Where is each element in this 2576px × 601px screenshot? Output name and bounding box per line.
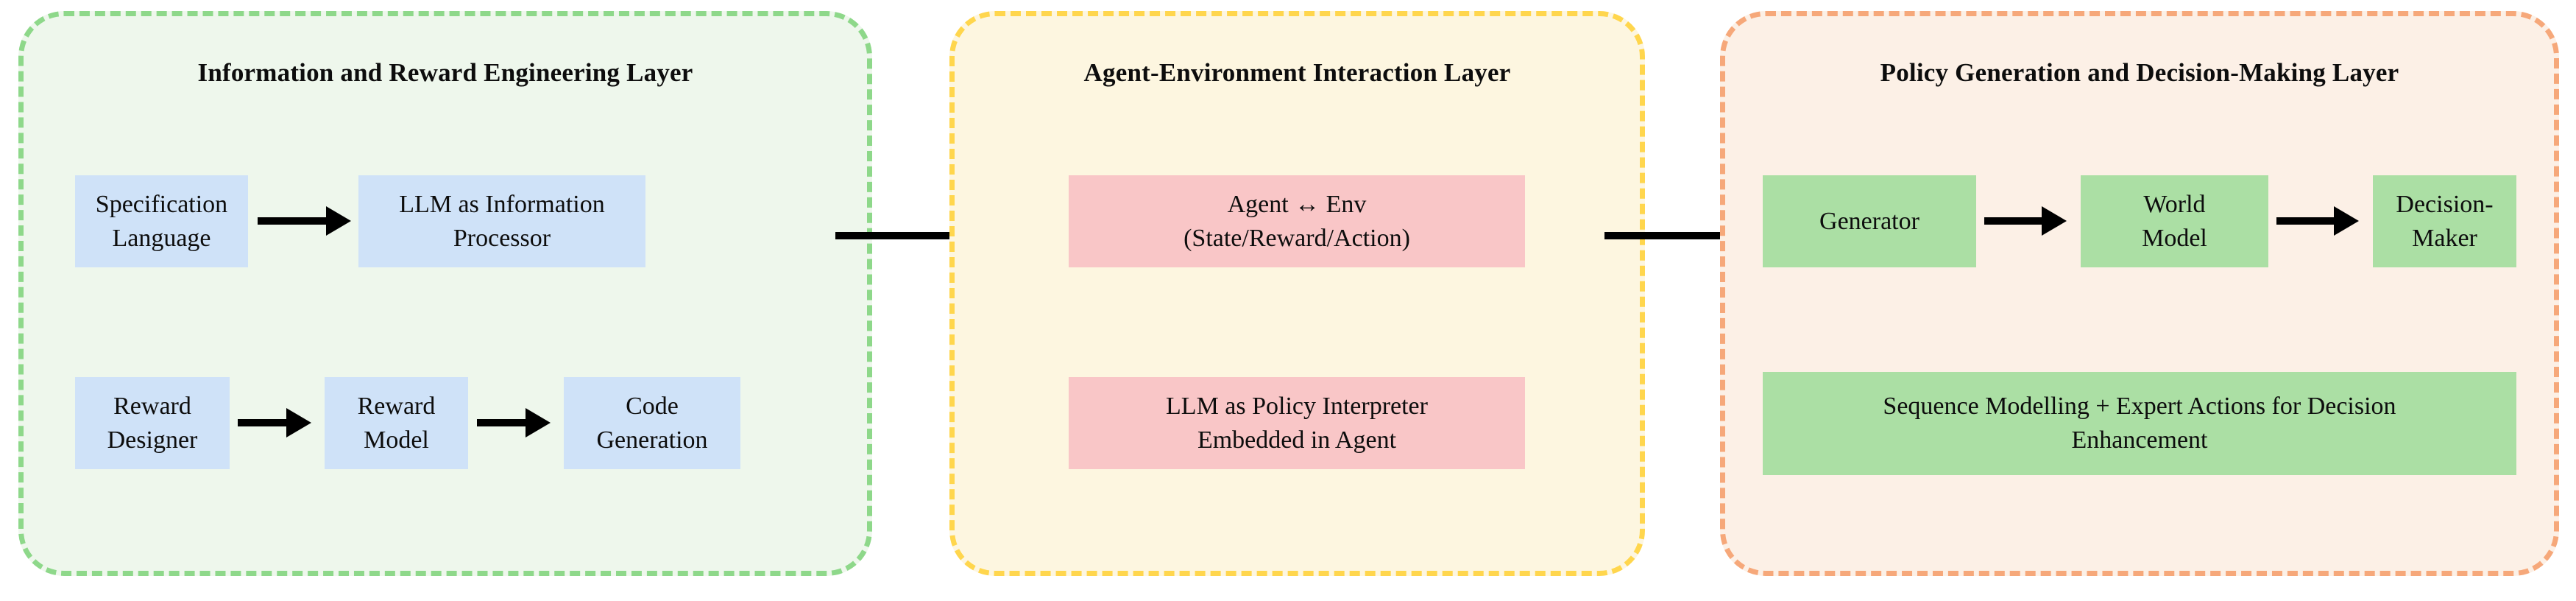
node-code-generation-label: CodeGeneration: [596, 390, 707, 457]
node-reward-designer[interactable]: RewardDesigner: [75, 377, 230, 469]
node-reward-model-label: RewardModel: [358, 390, 436, 457]
node-sequence-modelling-expert-actions[interactable]: Sequence Modelling + Expert Actions for …: [1763, 372, 2516, 475]
node-agent-env-interaction-label: Agent ↔ Env(State/Reward/Action): [1183, 188, 1410, 255]
node-agent-env-interaction[interactable]: Agent ↔ Env(State/Reward/Action): [1069, 175, 1525, 267]
panel-policy-generation-decision-making-layer: Policy Generation and Decision-Making La…: [1720, 11, 2559, 576]
node-llm-as-information-processor-label: LLM as InformationProcessor: [399, 188, 605, 255]
node-llm-as-policy-interpreter-label: LLM as Policy InterpreterEmbedded in Age…: [1166, 390, 1428, 457]
arrow-head: [326, 206, 351, 236]
panel-title-agent-environment-interaction-layer: Agent-Environment Interaction Layer: [955, 58, 1640, 88]
node-world-model[interactable]: WorldModel: [2081, 175, 2268, 267]
node-specification-language[interactable]: SpecificationLanguage: [75, 175, 248, 267]
arrow-shaft: [238, 419, 288, 426]
arrow-head: [526, 408, 551, 437]
panel-information-reward-engineering-layer: Information and Reward Engineering Layer: [18, 11, 872, 576]
arrow-shaft: [258, 217, 328, 225]
node-code-generation[interactable]: CodeGeneration: [564, 377, 740, 469]
node-llm-as-policy-interpreter[interactable]: LLM as Policy InterpreterEmbedded in Age…: [1069, 377, 1525, 469]
node-world-model-label: WorldModel: [2142, 188, 2207, 255]
arrow-shaft: [1984, 217, 2043, 225]
node-generator-label: Generator: [1819, 205, 1919, 239]
panel-title-information-reward-engineering-layer: Information and Reward Engineering Layer: [24, 58, 867, 88]
panel-agent-environment-interaction-layer: Agent-Environment Interaction Layer: [949, 11, 1645, 576]
node-decision-maker[interactable]: Decision-Maker: [2373, 175, 2516, 267]
node-decision-maker-label: Decision-Maker: [2396, 188, 2493, 255]
panel-title-policy-generation-decision-making-layer: Policy Generation and Decision-Making La…: [1725, 58, 2554, 88]
node-reward-designer-label: RewardDesigner: [107, 390, 198, 457]
node-llm-as-information-processor[interactable]: LLM as InformationProcessor: [358, 175, 645, 267]
arrow-shaft: [2276, 217, 2335, 225]
node-generator[interactable]: Generator: [1763, 175, 1976, 267]
arrow-shaft: [477, 419, 527, 426]
node-sequence-modelling-expert-actions-label: Sequence Modelling + Expert Actions for …: [1883, 390, 2396, 457]
node-specification-language-label: SpecificationLanguage: [96, 188, 227, 255]
arrow-head: [286, 408, 311, 437]
arrow-head: [2334, 206, 2359, 236]
arrow-head: [2042, 206, 2067, 236]
diagram-canvas: Information and Reward Engineering Layer…: [0, 0, 2576, 601]
node-reward-model[interactable]: RewardModel: [325, 377, 468, 469]
